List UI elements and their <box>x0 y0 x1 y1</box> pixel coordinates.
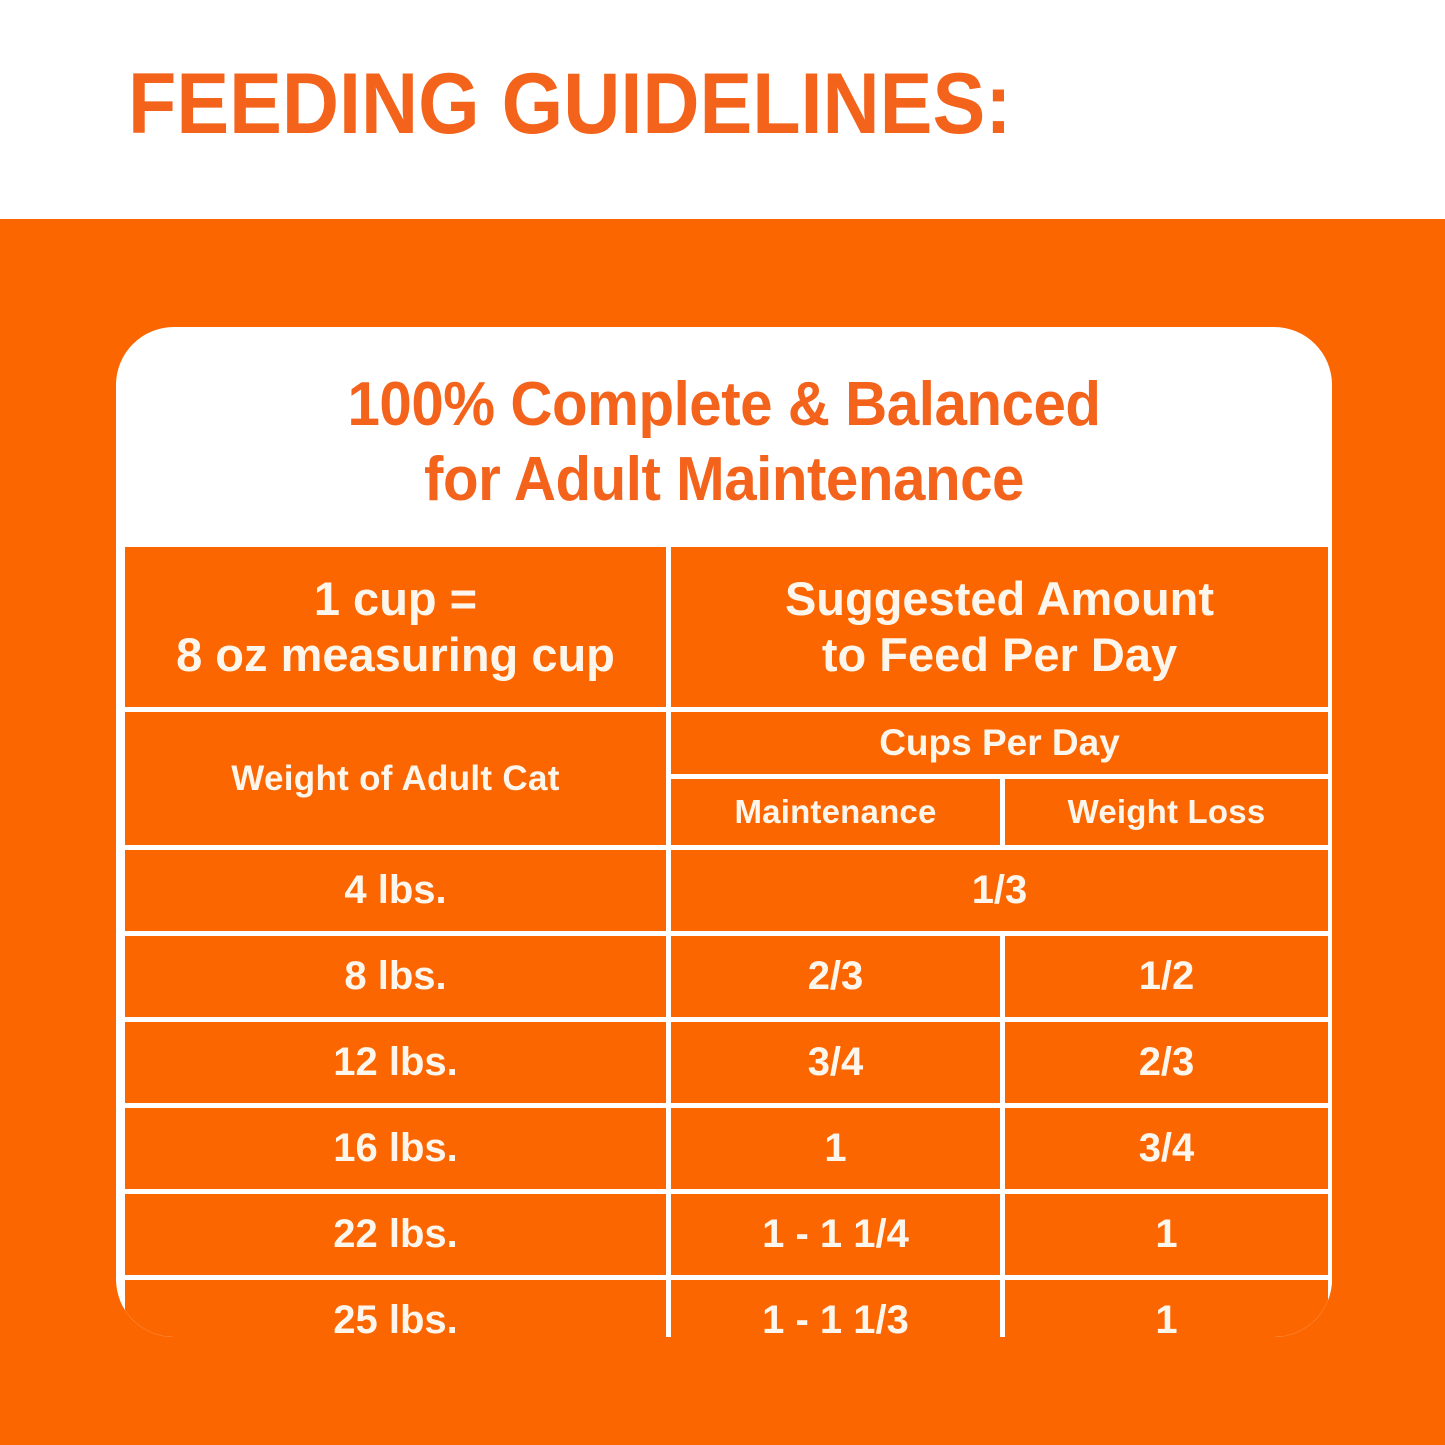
banner-cell-cup-equivalence: 1 cup = 8 oz measuring cup <box>123 545 669 710</box>
table-row: 25 lbs. 1 - 1 1/3 1 <box>123 1278 1331 1338</box>
guidelines-card: 100% Complete & Balanced for Adult Maint… <box>116 327 1332 1337</box>
row-weight-loss: 1 <box>1003 1278 1331 1338</box>
header-cups-per-day: Cups Per Day <box>669 710 1331 777</box>
row-weight-loss: 2/3 <box>1003 1020 1331 1106</box>
banner-amount-line2: to Feed Per Day <box>671 627 1328 683</box>
header-weight-of-adult-cat: Weight of Adult Cat <box>123 710 669 848</box>
row-maintenance: 3/4 <box>669 1020 1003 1106</box>
feeding-table: 1 cup = 8 oz measuring cup Suggested Amo… <box>120 542 1332 1337</box>
table-banner-row: 1 cup = 8 oz measuring cup Suggested Amo… <box>123 545 1331 710</box>
header-weight-loss: Weight Loss <box>1003 777 1331 848</box>
row-weight-loss: 1/2 <box>1003 934 1331 1020</box>
row-maintenance: 2/3 <box>669 934 1003 1020</box>
feeding-table-wrapper: 1 cup = 8 oz measuring cup Suggested Amo… <box>120 542 1328 1337</box>
row-weight: 4 lbs. <box>123 848 669 934</box>
card-heading: 100% Complete & Balanced for Adult Maint… <box>152 367 1295 517</box>
table-row: 22 lbs. 1 - 1 1/4 1 <box>123 1192 1331 1278</box>
table-header-row-top: Weight of Adult Cat Cups Per Day <box>123 710 1331 777</box>
feeding-guidelines-panel: FEEDING GUIDELINES: 100% Complete & Bala… <box>0 0 1445 1445</box>
table-row: 16 lbs. 1 3/4 <box>123 1106 1331 1192</box>
card-heading-line1: 100% Complete & Balanced <box>347 370 1100 439</box>
table-row: 8 lbs. 2/3 1/2 <box>123 934 1331 1020</box>
row-weight: 16 lbs. <box>123 1106 669 1192</box>
card-heading-line2: for Adult Maintenance <box>152 442 1295 517</box>
row-weight: 25 lbs. <box>123 1278 669 1338</box>
banner-cup-line2: 8 oz measuring cup <box>125 627 666 683</box>
row-maintenance: 1/3 <box>669 848 1331 934</box>
row-maintenance: 1 - 1 1/3 <box>669 1278 1003 1338</box>
header-maintenance: Maintenance <box>669 777 1003 848</box>
row-weight-loss: 3/4 <box>1003 1106 1331 1192</box>
banner-cell-suggested-amount: Suggested Amount to Feed Per Day <box>669 545 1331 710</box>
title-band: FEEDING GUIDELINES: <box>0 0 1445 219</box>
table-row: 12 lbs. 3/4 2/3 <box>123 1020 1331 1106</box>
row-weight: 8 lbs. <box>123 934 669 1020</box>
row-weight-loss: 1 <box>1003 1192 1331 1278</box>
row-maintenance: 1 - 1 1/4 <box>669 1192 1003 1278</box>
row-maintenance: 1 <box>669 1106 1003 1192</box>
row-weight: 12 lbs. <box>123 1020 669 1106</box>
table-row: 4 lbs. 1/3 <box>123 848 1331 934</box>
row-weight: 22 lbs. <box>123 1192 669 1278</box>
banner-amount-line1: Suggested Amount <box>785 572 1214 625</box>
banner-cup-line1: 1 cup = <box>314 572 477 625</box>
page-title: FEEDING GUIDELINES: <box>128 54 1140 154</box>
